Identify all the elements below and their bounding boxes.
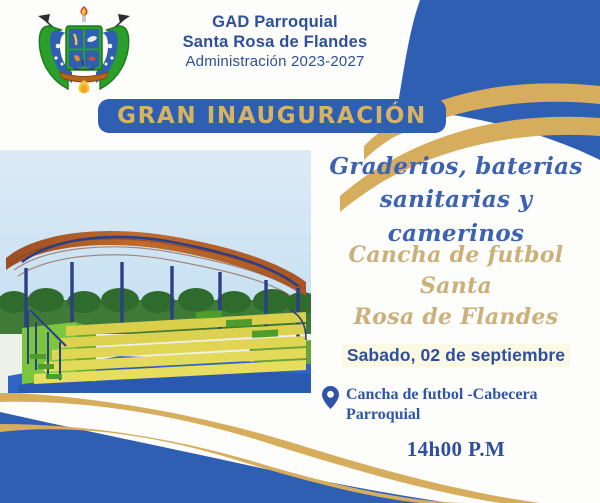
map-pin-icon [322,386,339,414]
header-line-2: Santa Rosa de Flandes [150,32,400,52]
organization-header: GAD Parroquial Santa Rosa de Flandes Adm… [150,12,400,72]
event-location-text: Cancha de futbol -Cabecera Parroquial [346,385,538,425]
location-line-2: Parroquial [346,406,420,423]
event-date-text: Sabado, 02 de septiembre [342,344,570,367]
poster-canvas: GAD Parroquial Santa Rosa de Flandes Adm… [0,0,600,503]
event-location: Cancha de futbol -Cabecera Parroquial [322,385,600,425]
location-line-1: Cancha de futbol -Cabecera [346,386,538,403]
header-line-3: Administración 2023-2027 [150,53,400,71]
headline-line-1: Graderios, baterias [312,150,600,183]
banner-label: GRAN INAUGURACIÓN [117,103,427,129]
header-line-1: GAD Parroquial [150,12,400,32]
event-time: 14h00 P.M [312,437,600,462]
subtitle-line-2: Rosa de Flandes [312,302,600,333]
event-time-text: 14h00 P.M [407,437,506,461]
bleachers-photo [0,150,311,393]
coat-of-arms-emblem [28,6,140,98]
event-date: Sabado, 02 de septiembre [312,344,600,367]
subtitle-line-1: Cancha de futbol Santa [312,240,600,302]
gran-inauguracion-banner: GRAN INAUGURACIÓN [98,99,446,133]
event-subtitle: Cancha de futbol Santa Rosa de Flandes [312,240,600,334]
event-headline: Graderios, baterias sanitarias y camerin… [312,150,600,250]
